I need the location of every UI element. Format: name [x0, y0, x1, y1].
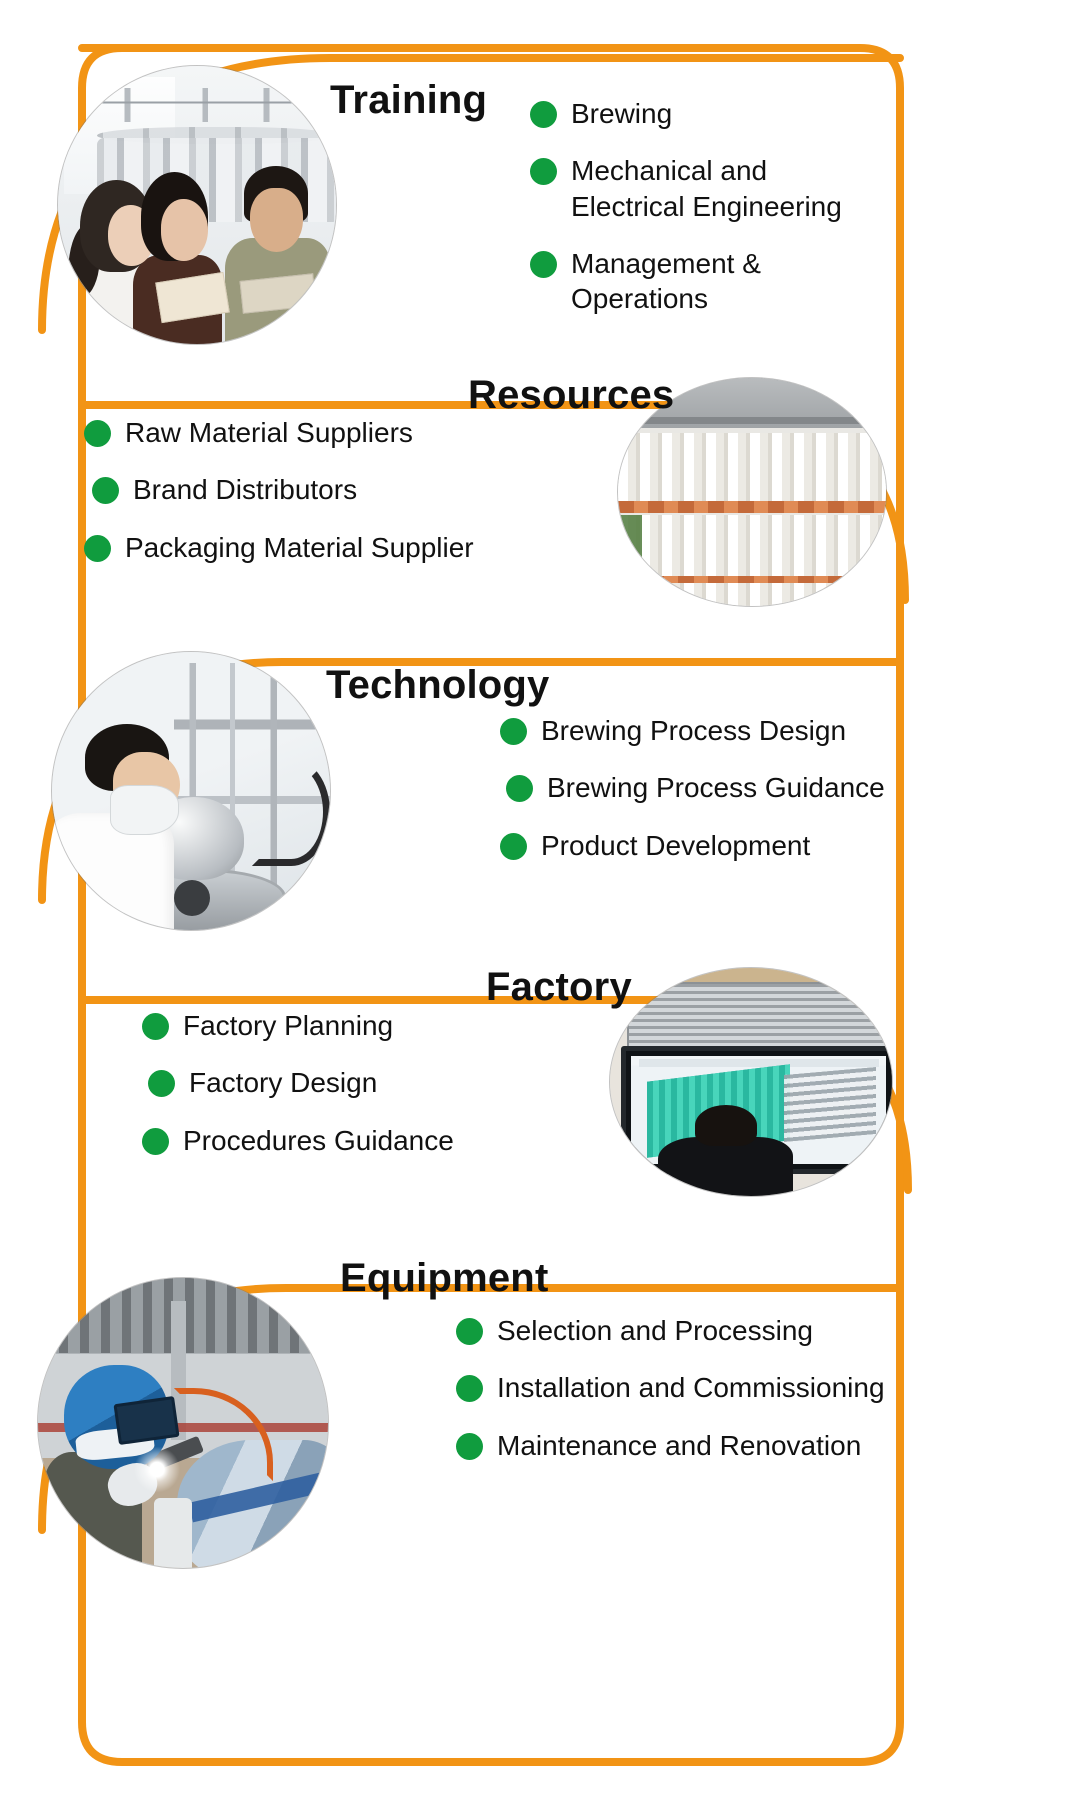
bullet-dot-icon [456, 1375, 483, 1402]
bullet-dot-icon [84, 420, 111, 447]
bullet-label: Product Development [541, 828, 810, 863]
bullet-label: Installation and Commissioning [497, 1370, 885, 1405]
bullet-list-factory: Factory Planning Factory Design Procedur… [142, 1008, 582, 1180]
training-photo [58, 66, 336, 344]
list-item: Installation and Commissioning [456, 1370, 926, 1405]
section-title-factory: Factory [486, 965, 632, 1010]
bullet-list-equipment: Selection and Processing Installation an… [456, 1313, 926, 1485]
list-item: Factory Planning [142, 1008, 582, 1043]
list-item: Packaging Material Supplier [84, 530, 604, 565]
bullet-dot-icon [500, 718, 527, 745]
list-item: Raw Material Suppliers [84, 415, 604, 450]
bullet-label: Management & Operations [571, 246, 761, 317]
bullet-label: Mechanical and Electrical Engineering [571, 153, 842, 224]
factory-photo [610, 968, 892, 1196]
list-item: Management & Operations [530, 246, 910, 317]
technology-photo [52, 652, 330, 930]
bullet-label: Maintenance and Renovation [497, 1428, 861, 1463]
bullet-dot-icon [530, 101, 557, 128]
bullet-dot-icon [148, 1070, 175, 1097]
infographic-canvas: Training Brewing Mechanical and Electric… [0, 0, 1080, 1807]
section-title-technology: Technology [326, 663, 549, 708]
bullet-label: Packaging Material Supplier [125, 530, 474, 565]
bullet-list-resources: Raw Material Suppliers Brand Distributor… [84, 415, 604, 587]
bullet-dot-icon [456, 1433, 483, 1460]
list-item: Selection and Processing [456, 1313, 926, 1348]
bullet-label: Raw Material Suppliers [125, 415, 413, 450]
list-item: Product Development [500, 828, 920, 863]
bullet-dot-icon [506, 775, 533, 802]
bullet-list-training: Brewing Mechanical and Electrical Engine… [530, 96, 910, 338]
list-item: Brand Distributors [92, 472, 604, 507]
section-title-resources: Resources [468, 373, 674, 418]
bullet-dot-icon [500, 833, 527, 860]
bullet-label: Brewing Process Design [541, 713, 846, 748]
list-item: Procedures Guidance [142, 1123, 582, 1158]
section-title-equipment: Equipment [340, 1256, 548, 1301]
section-title-training: Training [330, 78, 487, 123]
bullet-list-technology: Brewing Process Design Brewing Process G… [500, 713, 920, 885]
bullet-label: Procedures Guidance [183, 1123, 454, 1158]
bullet-label: Factory Design [189, 1065, 377, 1100]
equipment-photo [38, 1278, 328, 1568]
bullet-dot-icon [530, 251, 557, 278]
bullet-dot-icon [142, 1013, 169, 1040]
bullet-label: Factory Planning [183, 1008, 393, 1043]
list-item: Mechanical and Electrical Engineering [530, 153, 910, 224]
list-item: Maintenance and Renovation [456, 1428, 926, 1463]
bullet-dot-icon [530, 158, 557, 185]
list-item: Factory Design [148, 1065, 582, 1100]
bullet-dot-icon [92, 477, 119, 504]
bullet-dot-icon [84, 535, 111, 562]
bullet-label: Brewing [571, 96, 672, 131]
list-item: Brewing [530, 96, 910, 131]
bullet-dot-icon [456, 1318, 483, 1345]
bullet-dot-icon [142, 1128, 169, 1155]
bullet-label: Brewing Process Guidance [547, 770, 885, 805]
bullet-label: Selection and Processing [497, 1313, 813, 1348]
list-item: Brewing Process Design [500, 713, 920, 748]
bullet-label: Brand Distributors [133, 472, 357, 507]
list-item: Brewing Process Guidance [506, 770, 920, 805]
